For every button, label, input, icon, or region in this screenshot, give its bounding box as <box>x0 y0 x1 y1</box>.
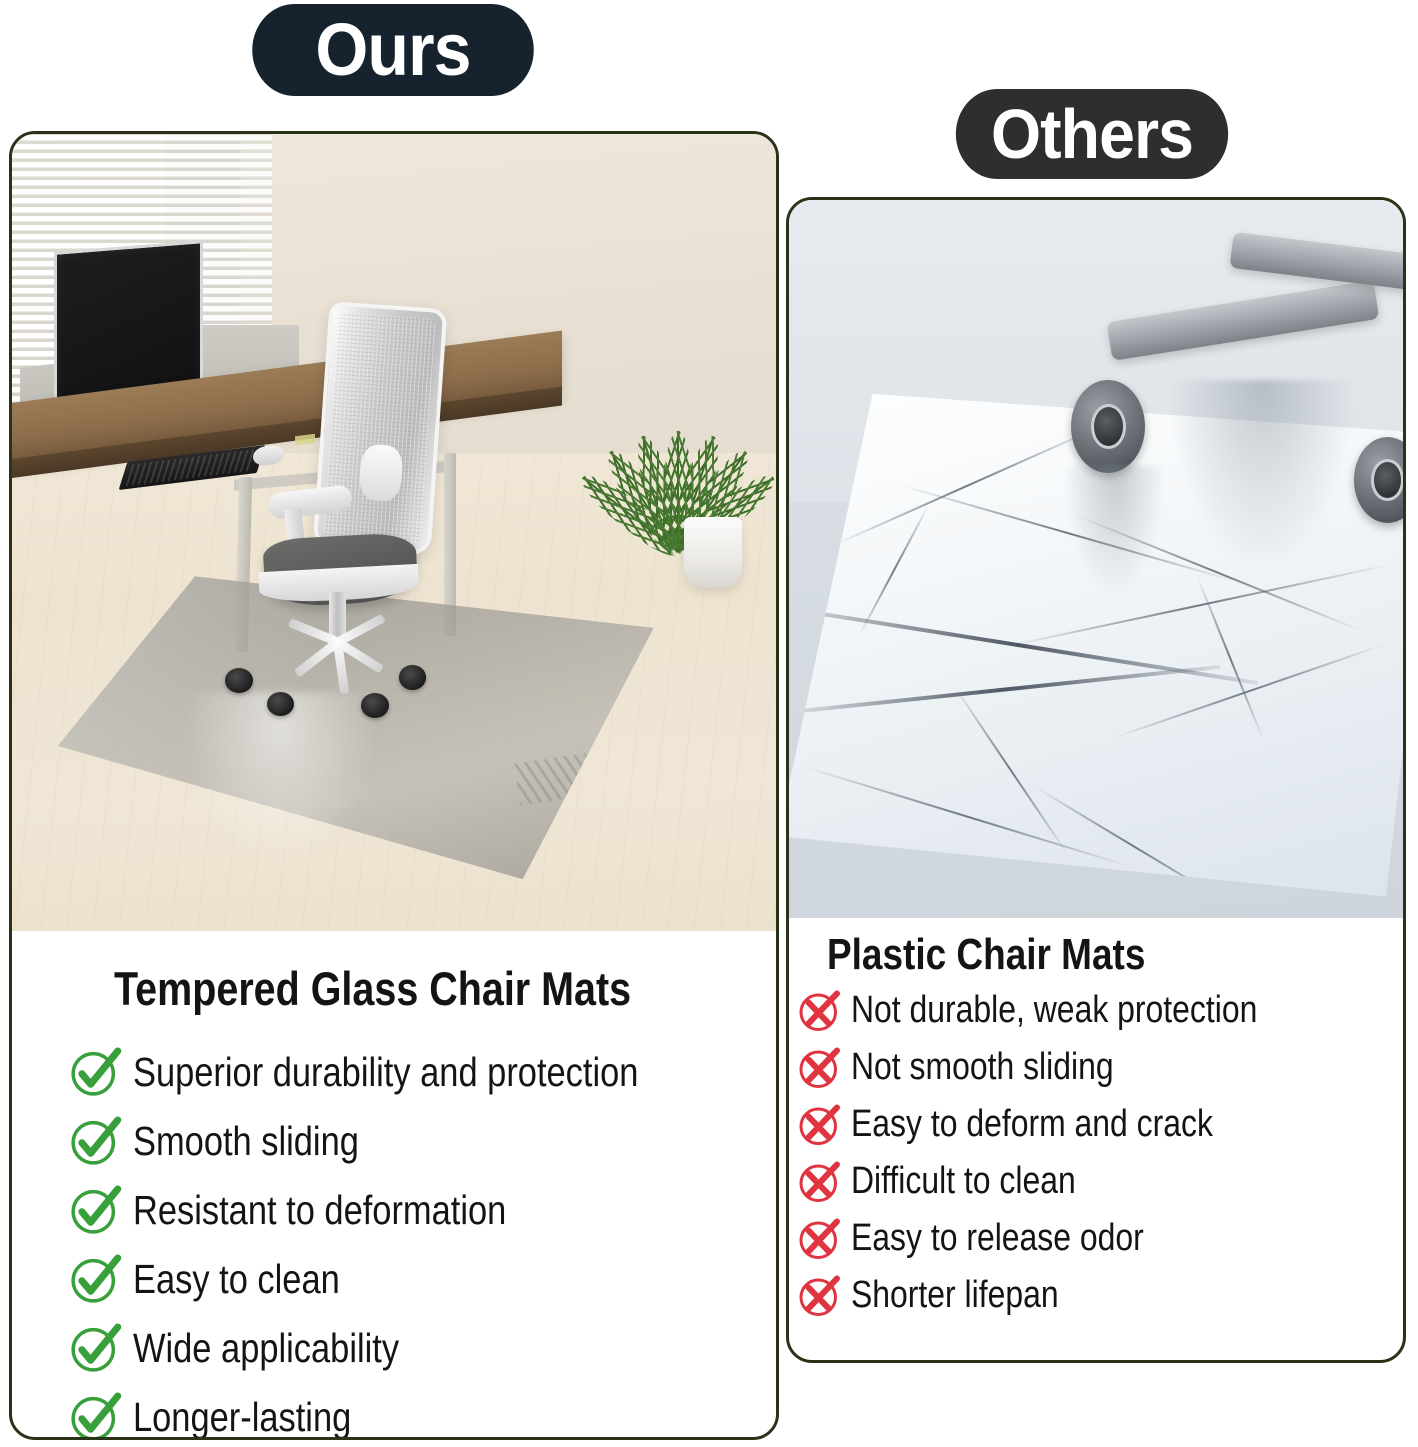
list-item-label: Superior durability and protection <box>133 1049 638 1096</box>
badge-others-label: Others <box>991 99 1193 169</box>
list-item: Shorter lifepan <box>795 1271 1403 1319</box>
green-check-icon <box>67 1182 123 1238</box>
red-cross-icon <box>795 1157 843 1205</box>
comparison-infographic: Ours Others <box>0 0 1418 1447</box>
list-item-label: Smooth sliding <box>133 1118 359 1165</box>
list-item: Not durable, weak protection <box>795 986 1403 1034</box>
palm-plant <box>577 182 776 549</box>
others-content: Plastic Chair Mats Not durable, weak pro… <box>789 930 1403 1319</box>
ours-heading: Tempered Glass Chair Mats <box>114 961 670 1016</box>
green-check-icon <box>67 1044 123 1100</box>
list-item: Resistant to deformation <box>67 1182 776 1238</box>
red-cross-icon <box>795 1043 843 1091</box>
caster-hub <box>1091 404 1126 449</box>
caster-hub <box>1371 459 1403 500</box>
red-cross-icon <box>795 1214 843 1262</box>
list-item: Smooth sliding <box>67 1113 776 1169</box>
list-item: Easy to deform and crack <box>795 1100 1403 1148</box>
list-item-label: Difficult to clean <box>851 1160 1076 1203</box>
photo-others <box>789 200 1403 918</box>
red-cross-icon <box>795 986 843 1034</box>
red-cross-icon <box>795 1100 843 1148</box>
list-item-label: Easy to clean <box>133 1256 340 1303</box>
list-item-label: Easy to deform and crack <box>851 1103 1213 1146</box>
panel-others: Plastic Chair Mats Not durable, weak pro… <box>786 197 1406 1363</box>
list-item-label: Longer-lasting <box>133 1394 351 1441</box>
badge-ours-label: Ours <box>315 13 470 87</box>
list-item-label: Shorter lifepan <box>851 1274 1059 1317</box>
green-check-icon <box>67 1113 123 1169</box>
list-item: Wide applicability <box>67 1320 776 1376</box>
badge-others: Others <box>956 89 1228 179</box>
chair-backrest <box>313 302 448 557</box>
ours-content: Tempered Glass Chair Mats Superior durab… <box>12 961 776 1440</box>
list-item: Easy to release odor <box>795 1214 1403 1262</box>
chair-shadow <box>1170 380 1354 567</box>
others-heading: Plastic Chair Mats <box>827 930 1311 980</box>
list-item: Superior durability and protection <box>67 1044 776 1100</box>
green-check-icon <box>67 1251 123 1307</box>
list-item: Not smooth sliding <box>795 1043 1403 1091</box>
list-item: Easy to clean <box>67 1251 776 1307</box>
list-item-label: Not smooth sliding <box>851 1046 1114 1089</box>
badge-ours: Ours <box>252 4 534 96</box>
list-item-label: Resistant to deformation <box>133 1187 506 1234</box>
green-check-icon <box>67 1320 123 1376</box>
others-feature-list: Not durable, weak protection Not smooth … <box>795 986 1403 1319</box>
chair-caster <box>1071 380 1145 473</box>
list-item: Difficult to clean <box>795 1157 1403 1205</box>
list-item-label: Easy to release odor <box>851 1217 1144 1260</box>
ours-feature-list: Superior durability and protection Smoot… <box>67 1044 776 1440</box>
chair-lumbar-support <box>358 443 404 502</box>
list-item-label: Wide applicability <box>133 1325 399 1372</box>
plant-pot <box>684 517 742 589</box>
photo-ours <box>12 134 776 931</box>
caster-reflection <box>1065 466 1163 595</box>
red-cross-icon <box>795 1271 843 1319</box>
panel-ours: Tempered Glass Chair Mats Superior durab… <box>9 131 779 1440</box>
green-check-icon <box>67 1389 123 1440</box>
list-item-label: Not durable, weak protection <box>851 989 1257 1032</box>
list-item: Longer-lasting <box>67 1389 776 1440</box>
chair-base <box>234 636 440 732</box>
